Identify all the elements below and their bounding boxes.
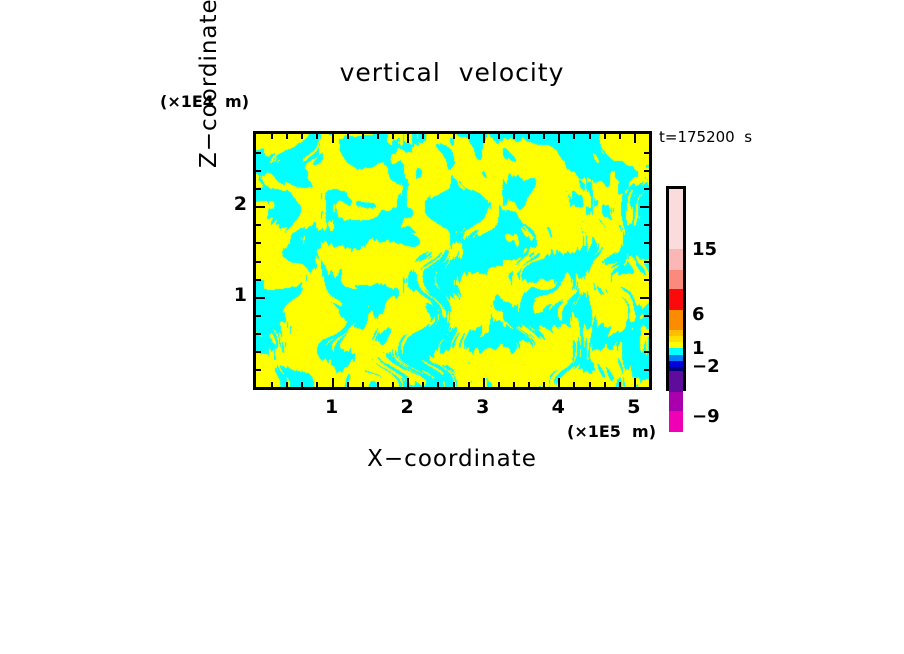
tick-mark bbox=[644, 333, 649, 335]
tick-mark bbox=[640, 297, 649, 299]
tick-mark bbox=[644, 242, 649, 244]
tick-mark bbox=[640, 206, 649, 208]
tick-mark bbox=[362, 134, 364, 139]
tick-mark bbox=[256, 152, 261, 154]
tick-mark bbox=[604, 382, 606, 387]
tick-mark bbox=[543, 382, 545, 387]
tick-mark bbox=[256, 206, 265, 208]
colorbar-band bbox=[669, 371, 683, 392]
timestamp-annotation: t=175200 s bbox=[659, 128, 752, 146]
tick-mark bbox=[347, 382, 349, 387]
tick-mark bbox=[644, 261, 649, 263]
tick-mark bbox=[271, 382, 273, 387]
tick-mark bbox=[256, 315, 261, 317]
tick-mark bbox=[644, 369, 649, 371]
figure-canvas: vertical velocity (×1E4 m) t=175200 s 12… bbox=[0, 0, 904, 654]
tick-mark bbox=[644, 152, 649, 154]
colorbar-tick-label: 6 bbox=[692, 304, 705, 325]
tick-mark bbox=[301, 382, 303, 387]
tick-mark bbox=[528, 134, 530, 139]
colorbar-band bbox=[669, 310, 683, 330]
tick-mark bbox=[377, 134, 379, 139]
colorbar-band bbox=[669, 392, 683, 411]
tick-mark bbox=[286, 134, 288, 139]
x-tick-label: 4 bbox=[538, 396, 578, 418]
colorbar-band bbox=[669, 189, 683, 249]
tick-mark bbox=[256, 369, 261, 371]
tick-mark bbox=[407, 378, 409, 387]
tick-mark bbox=[644, 351, 649, 353]
tick-mark bbox=[589, 134, 591, 139]
tick-mark bbox=[483, 378, 485, 387]
tick-mark bbox=[644, 224, 649, 226]
tick-mark bbox=[644, 315, 649, 317]
x-tick-label: 2 bbox=[387, 396, 427, 418]
tick-mark bbox=[256, 188, 261, 190]
tick-mark bbox=[453, 382, 455, 387]
tick-mark bbox=[589, 382, 591, 387]
tick-mark bbox=[437, 134, 439, 139]
tick-mark bbox=[256, 297, 265, 299]
tick-mark bbox=[634, 378, 636, 387]
x-tick-label: 1 bbox=[312, 396, 352, 418]
tick-mark bbox=[316, 382, 318, 387]
y-axis-title: Z−coordinate bbox=[196, 0, 222, 168]
colorbar-band bbox=[669, 411, 683, 432]
y-tick-label: 1 bbox=[225, 284, 247, 306]
tick-mark bbox=[513, 382, 515, 387]
tick-mark bbox=[498, 134, 500, 139]
tick-mark bbox=[644, 279, 649, 281]
tick-mark bbox=[256, 333, 261, 335]
tick-mark bbox=[392, 134, 394, 139]
x-axis-unit-label: (×1E5 m) bbox=[567, 422, 656, 441]
tick-mark bbox=[256, 261, 261, 263]
colorbar-band bbox=[669, 249, 683, 270]
tick-mark bbox=[453, 134, 455, 139]
tick-mark bbox=[286, 382, 288, 387]
tick-mark bbox=[619, 134, 621, 139]
contour-plot-area bbox=[253, 131, 652, 390]
tick-mark bbox=[573, 382, 575, 387]
tick-mark bbox=[407, 134, 409, 143]
tick-mark bbox=[422, 382, 424, 387]
tick-mark bbox=[256, 279, 261, 281]
tick-mark bbox=[316, 134, 318, 139]
tick-mark bbox=[437, 382, 439, 387]
tick-mark bbox=[256, 242, 261, 244]
y-tick-label: 2 bbox=[225, 193, 247, 215]
tick-mark bbox=[468, 382, 470, 387]
x-axis-title: X−coordinate bbox=[0, 446, 904, 472]
tick-mark bbox=[619, 382, 621, 387]
colorbar-band bbox=[669, 270, 683, 289]
tick-mark bbox=[558, 378, 560, 387]
tick-mark bbox=[392, 382, 394, 387]
colorbar-band bbox=[669, 289, 683, 310]
tick-mark bbox=[483, 134, 485, 143]
tick-mark bbox=[604, 134, 606, 139]
tick-mark bbox=[271, 134, 273, 139]
colorbar-tick-label: −9 bbox=[692, 406, 720, 427]
colorbar bbox=[666, 186, 686, 391]
tick-mark bbox=[498, 382, 500, 387]
tick-mark bbox=[301, 134, 303, 139]
x-tick-label: 5 bbox=[614, 396, 654, 418]
tick-mark bbox=[468, 134, 470, 139]
tick-mark bbox=[513, 134, 515, 139]
colorbar-tick-label: 15 bbox=[692, 239, 717, 260]
colorbar-tick-label: −2 bbox=[692, 356, 720, 377]
tick-mark bbox=[332, 134, 334, 143]
tick-mark bbox=[362, 382, 364, 387]
figure-title: vertical velocity bbox=[0, 58, 904, 87]
tick-mark bbox=[256, 351, 261, 353]
vertical-velocity-field bbox=[256, 134, 649, 387]
tick-mark bbox=[256, 224, 261, 226]
tick-mark bbox=[422, 134, 424, 139]
tick-mark bbox=[332, 378, 334, 387]
tick-mark bbox=[644, 170, 649, 172]
tick-mark bbox=[347, 134, 349, 139]
tick-mark bbox=[256, 170, 261, 172]
tick-mark bbox=[543, 134, 545, 139]
tick-mark bbox=[634, 134, 636, 143]
tick-mark bbox=[377, 382, 379, 387]
x-tick-label: 3 bbox=[463, 396, 503, 418]
tick-mark bbox=[528, 382, 530, 387]
tick-mark bbox=[573, 134, 575, 139]
colorbar-band bbox=[669, 348, 683, 355]
tick-mark bbox=[558, 134, 560, 143]
tick-mark bbox=[644, 188, 649, 190]
